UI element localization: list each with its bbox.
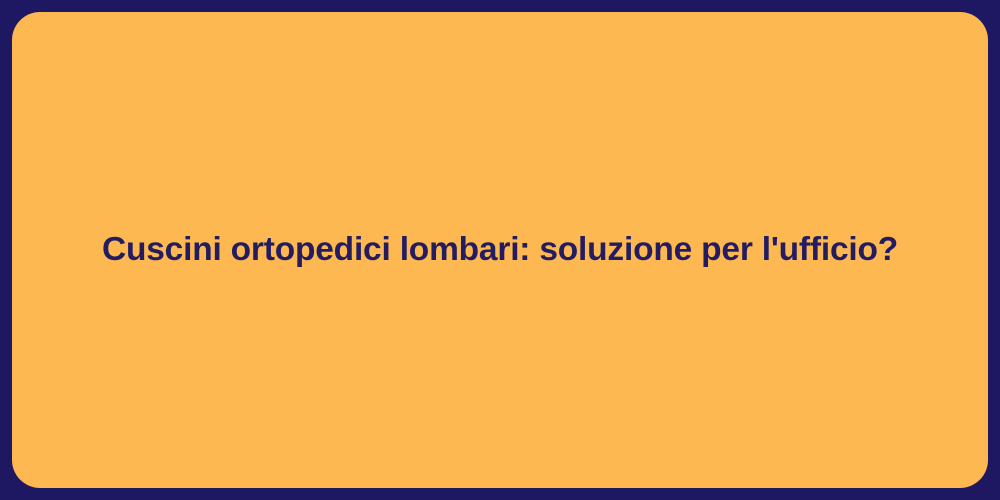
banner-card: Cuscini ortopedici lombari: soluzione pe… <box>12 12 988 488</box>
page-background: Cuscini ortopedici lombari: soluzione pe… <box>0 0 1000 500</box>
page-title: Cuscini ortopedici lombari: soluzione pe… <box>62 229 938 271</box>
